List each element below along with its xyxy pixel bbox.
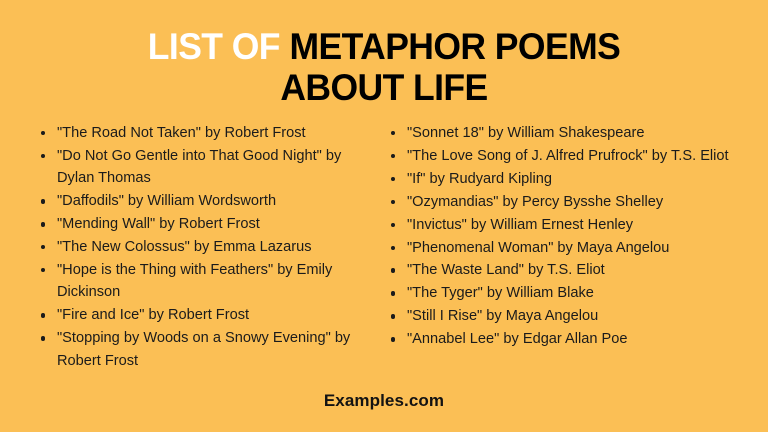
- list-item: "Still I Rise" by Maya Angelou: [390, 305, 750, 327]
- bullet-icon: [41, 222, 45, 226]
- title-highlight-text: LIST OF: [148, 26, 280, 67]
- brand-wordmark: Examples.com: [324, 391, 444, 410]
- list-item-label: "The Waste Land" by T.S. Eliot: [407, 262, 605, 278]
- list-item-label: "Stopping by Woods on a Snowy Evening" b…: [57, 330, 350, 368]
- bullet-icon: [41, 131, 45, 135]
- bullet-icon: [41, 154, 45, 158]
- list-item: "The Road Not Taken" by Robert Frost: [40, 122, 370, 144]
- list-item: "Hope is the Thing with Feathers" by Emi…: [40, 259, 370, 304]
- poem-list-right: "Sonnet 18" by William Shakespeare "The …: [390, 122, 750, 351]
- list-item: "The Love Song of J. Alfred Prufrock" by…: [390, 145, 750, 167]
- list-item-label: "The Love Song of J. Alfred Prufrock" by…: [407, 148, 729, 164]
- list-item-label: "Ozymandias" by Percy Bysshe Shelley: [407, 194, 663, 210]
- list-item: "Phenomenal Woman" by Maya Angelou: [390, 237, 750, 259]
- list-item-label: "The Tyger" by William Blake: [407, 285, 594, 301]
- list-item-label: "Sonnet 18" by William Shakespeare: [407, 125, 645, 141]
- list-item: "Mending Wall" by Robert Frost: [40, 213, 370, 235]
- title-line-1: LIST OFMETAPHOR POEMS: [54, 26, 714, 67]
- list-item-label: "The Road Not Taken" by Robert Frost: [57, 125, 306, 141]
- bullet-icon: [391, 314, 395, 318]
- poem-list-left: "The Road Not Taken" by Robert Frost "Do…: [40, 122, 370, 372]
- bullet-icon: [41, 336, 45, 340]
- page-title: LIST OFMETAPHOR POEMS ABOUT LIFE: [0, 0, 768, 108]
- footer: Examples.com: [0, 387, 768, 432]
- bullet-icon: [41, 245, 45, 249]
- poem-columns: "The Road Not Taken" by Robert Frost "Do…: [0, 108, 768, 387]
- bullet-icon: [391, 177, 395, 181]
- list-item: "Invictus" by William Ernest Henley: [390, 214, 750, 236]
- list-item: "Annabel Lee" by Edgar Allan Poe: [390, 328, 750, 350]
- list-item: "If" by Rudyard Kipling: [390, 168, 750, 190]
- bullet-icon: [391, 223, 395, 227]
- bullet-icon: [391, 268, 395, 272]
- bullet-icon: [391, 291, 395, 295]
- title-line-2: ABOUT LIFE: [54, 67, 714, 108]
- list-item-label: "The New Colossus" by Emma Lazarus: [57, 239, 312, 255]
- list-item-label: "If" by Rudyard Kipling: [407, 171, 552, 187]
- list-item: "Ozymandias" by Percy Bysshe Shelley: [390, 191, 750, 213]
- list-item: "Sonnet 18" by William Shakespeare: [390, 122, 750, 144]
- list-item-label: "Phenomenal Woman" by Maya Angelou: [407, 240, 669, 256]
- list-item-label: "Fire and Ice" by Robert Frost: [57, 307, 249, 323]
- bullet-icon: [41, 199, 45, 203]
- right-column: "Sonnet 18" by William Shakespeare "The …: [370, 122, 750, 387]
- list-item-label: "Do Not Go Gentle into That Good Night" …: [57, 148, 341, 186]
- bullet-icon: [391, 200, 395, 204]
- list-item-label: "Mending Wall" by Robert Frost: [57, 216, 260, 232]
- bullet-icon: [391, 246, 395, 250]
- bullet-icon: [41, 313, 45, 317]
- list-item: "Stopping by Woods on a Snowy Evening" b…: [40, 327, 370, 372]
- list-item-label: "Hope is the Thing with Feathers" by Emi…: [57, 262, 332, 300]
- list-item: "Do Not Go Gentle into That Good Night" …: [40, 145, 370, 190]
- list-item-label: "Invictus" by William Ernest Henley: [407, 217, 633, 233]
- list-item-label: "Annabel Lee" by Edgar Allan Poe: [407, 331, 628, 347]
- title-main-text: METAPHOR POEMS: [290, 26, 621, 67]
- list-item: "The New Colossus" by Emma Lazarus: [40, 236, 370, 258]
- list-item-label: "Still I Rise" by Maya Angelou: [407, 308, 598, 324]
- poster-canvas: LIST OFMETAPHOR POEMS ABOUT LIFE "The Ro…: [0, 0, 768, 432]
- bullet-icon: [391, 154, 395, 158]
- bullet-icon: [391, 337, 395, 341]
- bullet-icon: [391, 131, 395, 135]
- list-item: "The Waste Land" by T.S. Eliot: [390, 259, 750, 281]
- list-item: "Fire and Ice" by Robert Frost: [40, 304, 370, 326]
- list-item: "The Tyger" by William Blake: [390, 282, 750, 304]
- left-column: "The Road Not Taken" by Robert Frost "Do…: [18, 122, 370, 387]
- list-item-label: "Daffodils" by William Wordsworth: [57, 193, 276, 209]
- list-item: "Daffodils" by William Wordsworth: [40, 190, 370, 212]
- bullet-icon: [41, 268, 45, 272]
